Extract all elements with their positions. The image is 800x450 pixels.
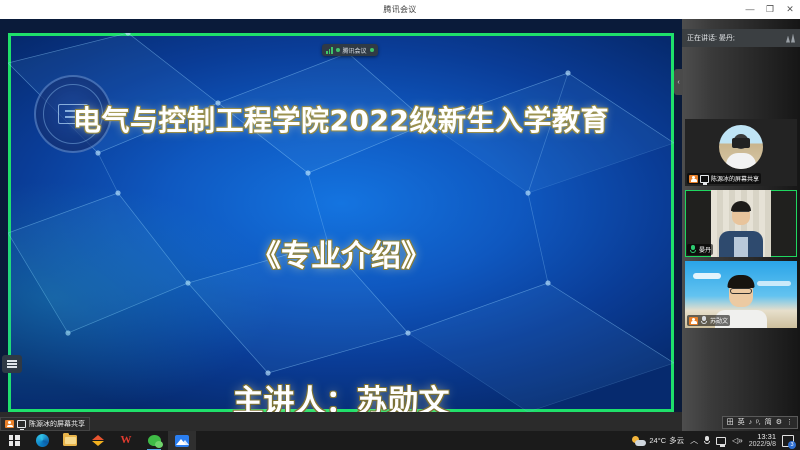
participant-name: 陈源冰的屏幕共享 [711, 174, 759, 183]
tile-cloud-decoration [693, 273, 721, 279]
folder-icon [63, 435, 77, 446]
participant-shirt [734, 237, 748, 257]
edge-browser-icon [36, 434, 49, 447]
taskbar-wps-office[interactable] [84, 431, 112, 450]
minimize-button[interactable]: — [740, 0, 760, 19]
participant-tile-host[interactable]: 苏勋文 [685, 261, 797, 328]
participant-glasses [730, 288, 752, 294]
shared-screen-stage[interactable]: 电气与控制工程学院2022级新生入学教育 《专业介绍》 主讲人：苏勋文 腾讯会议 [0, 19, 682, 412]
recording-dot-icon [336, 48, 340, 52]
slide-network-decoration [8, 33, 674, 412]
chevron-left-icon[interactable]: ‹ [674, 69, 683, 95]
ime-punctuation-icon[interactable]: ᵖ, [756, 419, 761, 426]
taskbar-apps: W [0, 431, 196, 450]
participants-panel: ‹ 正在讲话: 晏丹; 陈源冰的屏幕共享 [682, 19, 800, 431]
wechat-icon [148, 435, 161, 446]
ime-more-icon[interactable]: ⋮ [786, 419, 793, 426]
ime-language-bar[interactable]: 田 英 ♪ ᵖ, 简 ⚙ ⋮ [722, 416, 798, 429]
share-pill-status-icon [370, 48, 374, 52]
taskbar-edge[interactable] [28, 431, 56, 450]
window-title: 腾讯会议 [383, 4, 416, 15]
tray-weather[interactable]: 24°C 多云 [632, 435, 684, 446]
close-button[interactable]: ✕ [780, 0, 800, 19]
share-status-toolbar[interactable]: 腾讯会议 [322, 44, 378, 56]
taskbar-wps-writer[interactable]: W [112, 431, 140, 450]
sun-cloud-icon [632, 436, 646, 446]
windows-logo-icon [9, 435, 20, 446]
start-button[interactable] [0, 431, 28, 450]
tray-clock[interactable]: 13:31 2022/9/8 [749, 433, 776, 448]
list-menu-lines [7, 359, 17, 370]
ime-mode-icon[interactable]: 田 [727, 419, 734, 426]
microphone-icon[interactable] [704, 436, 710, 445]
share-pill-label: 腾讯会议 [343, 46, 367, 55]
microphone-muted-icon [700, 316, 708, 325]
host-badge-icon [689, 317, 698, 325]
taskbar-wechat[interactable] [140, 431, 168, 450]
presentation-slide: 电气与控制工程学院2022级新生入学教育 《专业介绍》 主讲人：苏勋文 [8, 33, 674, 412]
tray-temperature: 24°C [649, 436, 666, 445]
avatar [719, 125, 763, 169]
w-letter-icon: W [121, 435, 132, 446]
screen-share-icon [700, 175, 709, 183]
speaking-label: 正在讲话: 晏丹; [687, 33, 735, 43]
ime-settings-icon[interactable]: ⚙ [776, 419, 782, 426]
screen-share-indicator-chip[interactable]: 陈源冰的屏幕共享 [0, 417, 90, 431]
signal-bars-icon [326, 47, 333, 54]
notification-center-icon[interactable]: 3 [782, 435, 794, 447]
participant-tiles: 陈源冰的屏幕共享 晏丹 [685, 119, 797, 332]
tile-badge: 苏勋文 [687, 315, 730, 326]
list-menu-icon[interactable] [2, 355, 22, 373]
tray-time: 13:31 [749, 433, 776, 441]
tray-date: 2022/9/8 [749, 441, 776, 448]
taskbar-file-explorer[interactable] [56, 431, 84, 450]
speaking-indicator-bar: 正在讲话: 晏丹; [682, 29, 800, 47]
slide-presenter: 主讲人：苏勋文 [8, 376, 674, 412]
participant-glasses [733, 211, 750, 216]
ime-sound-icon[interactable]: ♪ [749, 419, 753, 426]
tray-condition: 多云 [669, 435, 684, 446]
meeting-app-window: 腾讯会议 — ❐ ✕ [0, 0, 800, 450]
system-tray: 24°C 多云 ︿ ◁» 13:31 2022/9/8 3 [632, 431, 800, 450]
notification-count: 3 [788, 441, 796, 449]
participant-tile-speaker[interactable]: 晏丹 [685, 190, 797, 257]
window-controls: — ❐ ✕ [740, 0, 800, 19]
microphone-on-icon [689, 245, 697, 254]
screen-share-chip-label: 陈源冰的屏幕共享 [29, 419, 85, 429]
avatar-camera [732, 138, 750, 148]
slide-subtitle: 《专业介绍》 [8, 231, 674, 275]
screen-share-icon [17, 420, 26, 428]
tile-badge: 晏丹 [687, 244, 713, 255]
maximize-button[interactable]: ❐ [760, 0, 780, 19]
slide-title: 电气与控制工程学院2022级新生入学教育 [8, 99, 674, 139]
window-titlebar: 腾讯会议 — ❐ ✕ [0, 0, 800, 19]
windows-taskbar: W 24°C 多云 ︿ ◁» 13:31 2022/9/8 [0, 431, 800, 450]
participant-name: 苏勋文 [710, 316, 728, 325]
tencent-meeting-icon [175, 435, 189, 447]
tile-cloud-decoration-2 [757, 281, 791, 286]
participant-tile-screen-share[interactable]: 陈源冰的屏幕共享 [685, 119, 797, 186]
wps-icon [92, 434, 105, 447]
ime-simplified-button[interactable]: 简 [765, 419, 772, 426]
avatar-body [726, 153, 756, 169]
taskbar-tencent-meeting[interactable] [168, 431, 196, 450]
host-badge-icon [5, 420, 14, 428]
host-badge-icon [689, 175, 698, 183]
speaker-icon[interactable]: ◁» [732, 437, 743, 445]
audio-wave-icon [786, 34, 795, 43]
participant-hair [728, 275, 755, 288]
ime-language-button[interactable]: 英 [738, 419, 745, 426]
screen-share-icon[interactable] [716, 437, 726, 445]
participant-name: 晏丹 [699, 245, 711, 254]
chevron-up-icon[interactable]: ︿ [690, 437, 698, 445]
tile-badge: 陈源冰的屏幕共享 [687, 173, 761, 184]
